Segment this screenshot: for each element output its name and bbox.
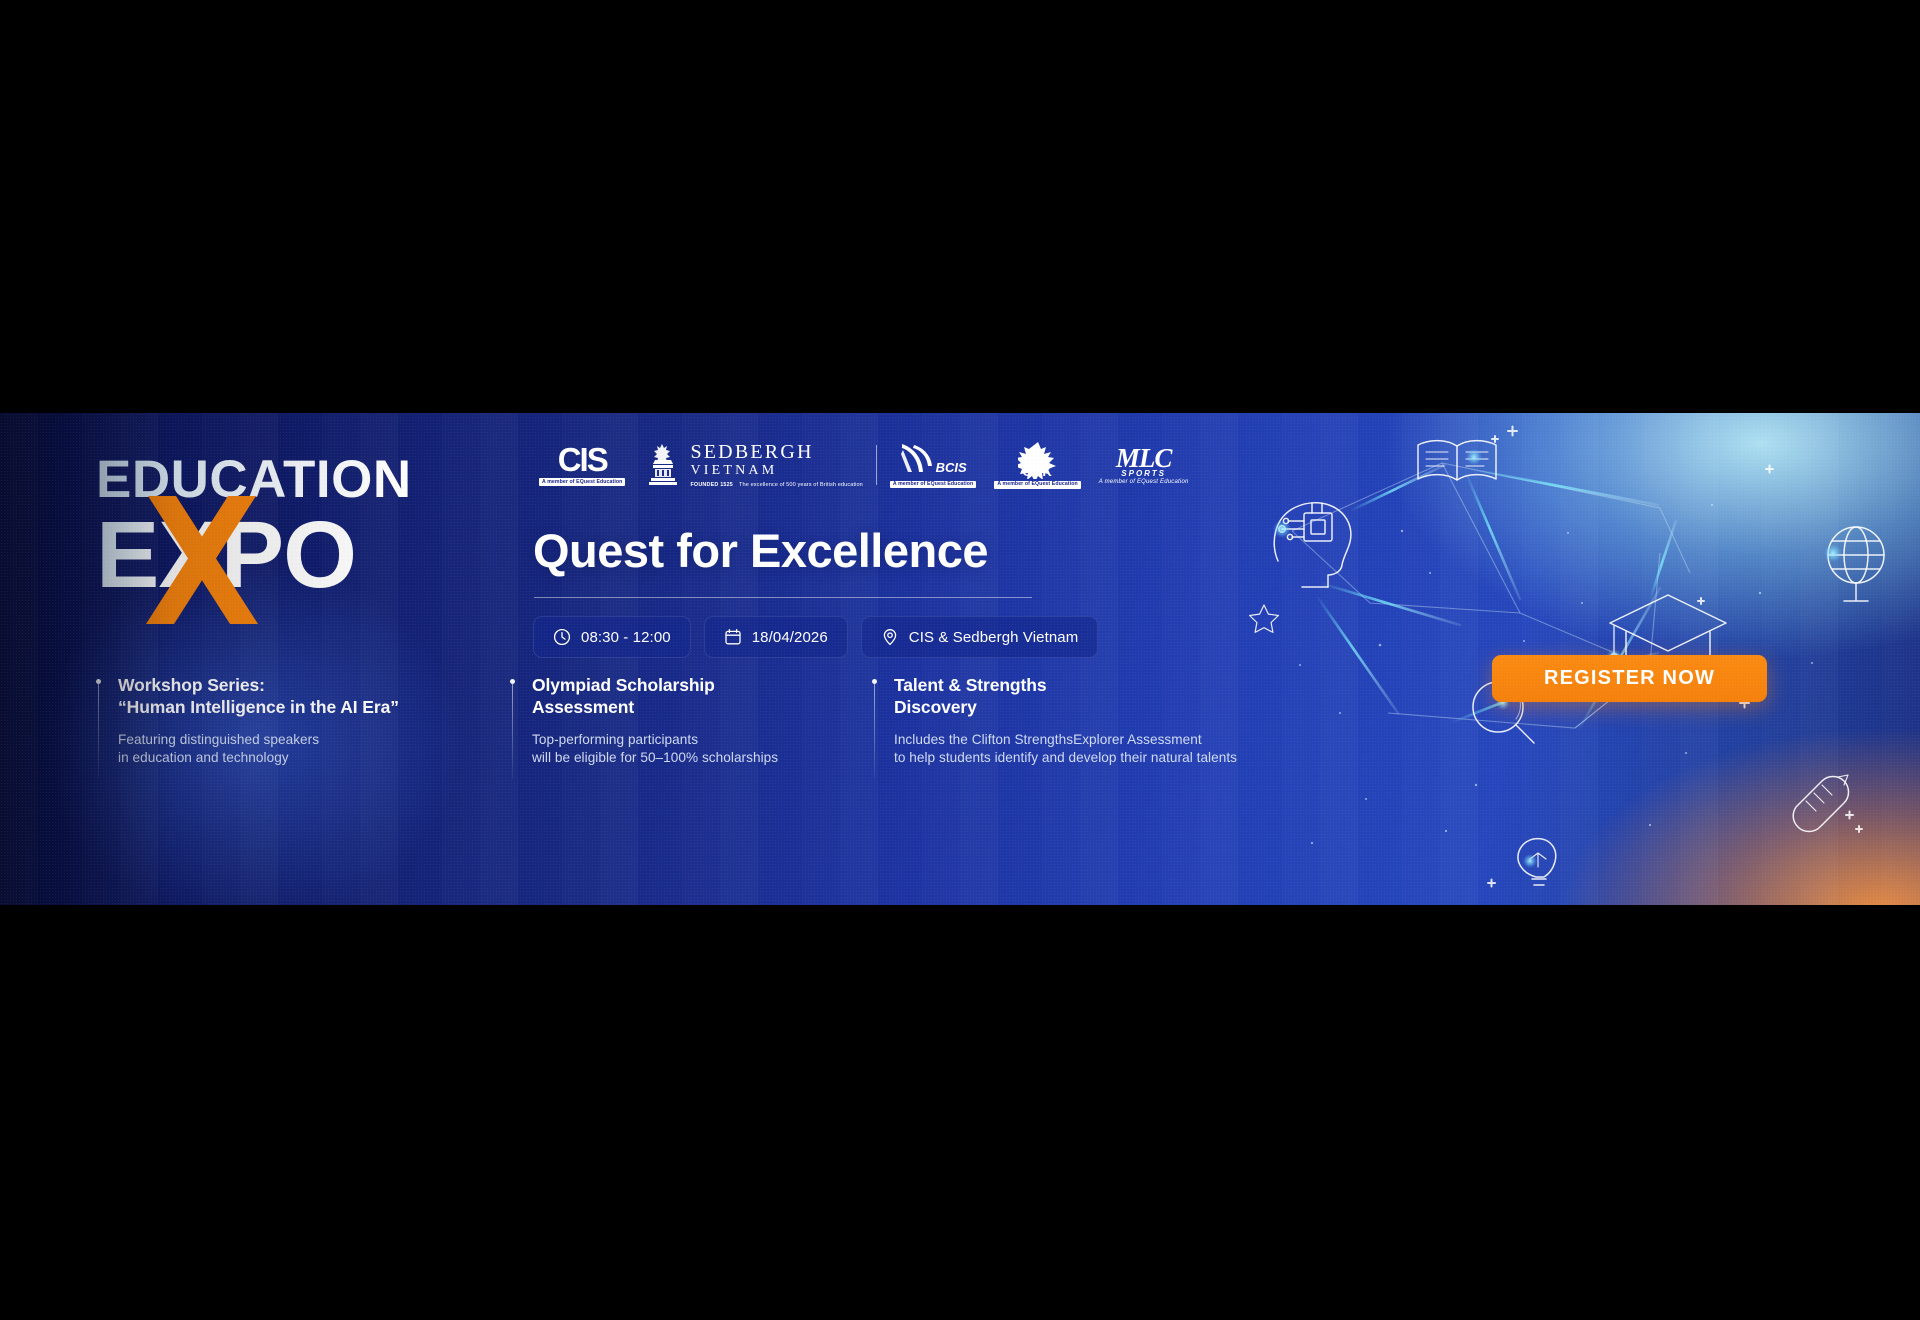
feature-talent-strengths: Talent & Strengths Discovery Includes th… — [872, 674, 1274, 767]
cis-logo: CIS A member of EQuest Education — [530, 444, 634, 486]
feature-vertical-rule — [512, 684, 513, 779]
sedbergh-tagline: The excellence of 500 years of British e… — [739, 482, 863, 488]
feature-desc-line1: Includes the Clifton StrengthsExplorer A… — [894, 731, 1274, 749]
sedbergh-vietnam-logo: SEDBERGH VIETNAM FOUNDED 1525 The excell… — [634, 442, 871, 489]
feature-description: Includes the Clifton StrengthsExplorer A… — [894, 731, 1274, 767]
lockup-line-education: EDUCATION — [96, 453, 526, 506]
cyk-member-tag: A member of EQuest Education — [994, 481, 1080, 489]
feature-description: Featuring distinguished speakers in educ… — [118, 731, 510, 767]
feature-workshop-series: Workshop Series: “Human Intelligence in … — [96, 674, 510, 767]
education-expo-lockup: EDUCATION EXPO — [96, 453, 526, 613]
feature-description: Top-performing participants will be elig… — [532, 731, 872, 767]
feature-title: Olympiad Scholarship Assessment — [532, 674, 872, 719]
register-now-button[interactable]: REGISTER NOW — [1492, 655, 1767, 702]
feature-desc-line1: Top-performing participants — [532, 731, 872, 749]
event-time-label: 08:30 - 12:00 — [581, 629, 671, 646]
feature-title-line1: Workshop Series: — [118, 674, 510, 696]
event-time-pill: 08:30 - 12:00 — [533, 616, 691, 658]
feature-title-line2: Discovery — [894, 696, 1274, 718]
bcis-swoosh-icon — [900, 442, 934, 478]
mlc-member-tag: A member of EQuest Education — [1099, 479, 1189, 485]
event-location-pill: CIS & Sedbergh Vietnam — [861, 616, 1099, 658]
education-expo-banner: EDUCATION EXPO CIS A member of EQuest Ed… — [0, 413, 1920, 905]
feature-vertical-rule — [98, 684, 99, 779]
banner-headline: Quest for Excellence — [533, 526, 988, 575]
cis-member-tag: A member of EQuest Education — [539, 478, 625, 486]
lockup-line-expo: EXPO — [96, 508, 356, 603]
feature-olympiad-scholarship: Olympiad Scholarship Assessment Top-perf… — [510, 674, 872, 767]
mlc-sports-sub: SPORTS — [1121, 469, 1166, 478]
location-pin-icon — [881, 628, 899, 646]
sedbergh-crest-icon — [643, 443, 683, 487]
clock-icon — [553, 628, 571, 646]
feature-desc-line2: in education and technology — [118, 749, 510, 767]
cyk-logo: CYK A member of EQuest Education — [985, 441, 1089, 489]
feature-title-line2: “Human Intelligence in the AI Era” — [118, 696, 510, 718]
bcis-member-tag: A member of EQuest Education — [890, 481, 976, 489]
feature-title: Workshop Series: “Human Intelligence in … — [118, 674, 510, 719]
logo-divider — [876, 445, 877, 485]
sedbergh-country-line: VIETNAM — [690, 462, 862, 480]
feature-columns: Workshop Series: “Human Intelligence in … — [96, 674, 1274, 767]
feature-desc-line1: Featuring distinguished speakers — [118, 731, 510, 749]
feature-title-line2: Assessment — [532, 696, 872, 718]
mlc-sports-logo: MLC SPORTS A member of EQuest Education — [1090, 445, 1198, 485]
event-date-pill: 18/04/2026 — [704, 616, 848, 658]
screenshot-canvas: EDUCATION EXPO CIS A member of EQuest Ed… — [0, 0, 1920, 1320]
feature-title-line1: Olympiad Scholarship — [532, 674, 872, 696]
calendar-icon — [724, 628, 742, 646]
mlc-wordmark: MLC — [1116, 445, 1172, 472]
sedbergh-founded: FOUNDED 1525 — [690, 482, 733, 488]
partner-logo-strip: CIS A member of EQuest Education — [530, 441, 1198, 489]
feature-title: Talent & Strengths Discovery — [894, 674, 1274, 719]
cis-wordmark: CIS — [558, 444, 607, 475]
feature-vertical-rule — [874, 684, 875, 779]
event-info-pills: 08:30 - 12:00 18/04/2026 CIS & Sedbergh … — [533, 616, 1098, 658]
cyk-wordmark: CYK — [1022, 465, 1052, 478]
feature-desc-line2: will be eligible for 50–100% scholarship… — [532, 749, 872, 767]
feature-desc-line2: to help students identify and develop th… — [894, 749, 1274, 767]
sedbergh-name-line: SEDBERGH — [690, 442, 862, 462]
event-date-label: 18/04/2026 — [752, 629, 828, 646]
event-location-label: CIS & Sedbergh Vietnam — [909, 629, 1079, 646]
feature-title-line1: Talent & Strengths — [894, 674, 1274, 696]
bcis-wordmark: BCIS — [936, 461, 967, 474]
headline-divider — [534, 597, 1032, 598]
bcis-logo: BCIS A member of EQuest Education — [881, 442, 985, 489]
